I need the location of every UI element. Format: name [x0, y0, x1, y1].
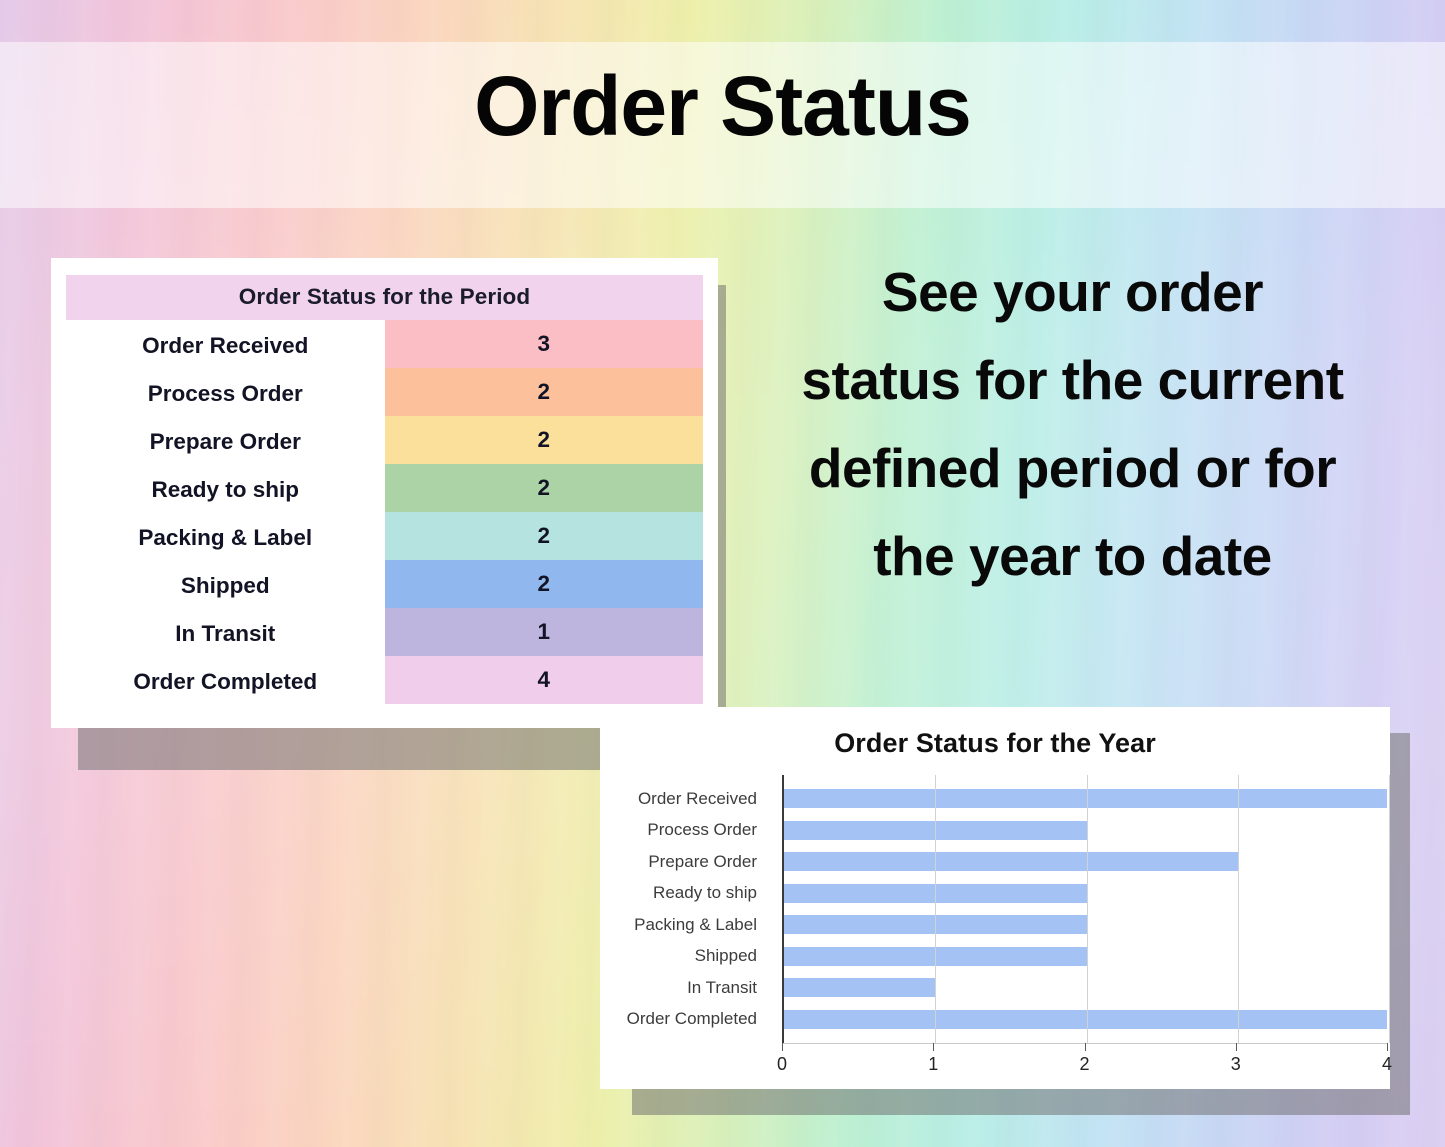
status-label: Prepare Order: [66, 418, 385, 462]
table-cell-count: 2: [385, 368, 704, 416]
chart-bar: [784, 852, 1238, 871]
table-cell-status: Order Received: [66, 320, 385, 368]
chart-plot-box: [782, 775, 1387, 1043]
table-row: Ready to ship2: [66, 464, 703, 512]
chart-bar-row: [784, 846, 1387, 878]
table-cell-status: In Transit: [66, 608, 385, 656]
table-cell-count: 3: [385, 320, 704, 368]
chart-gridline: [1087, 775, 1088, 1043]
chart-bar-row: [784, 941, 1387, 973]
chart-bar-row: [784, 878, 1387, 910]
chart-x-tick: [933, 1043, 934, 1051]
status-count: 2: [385, 563, 704, 605]
table-cell-status: Ready to ship: [66, 464, 385, 512]
status-count: 2: [385, 371, 704, 413]
order-status-table: Order Status for the Period Order Receiv…: [66, 275, 703, 704]
table-row: Order Completed4: [66, 656, 703, 704]
chart-gridline: [1238, 775, 1239, 1043]
table-cell-status: Packing & Label: [66, 512, 385, 560]
table-head: Order Status for the Period: [66, 275, 703, 320]
order-status-period-card: Order Status for the Period Order Receiv…: [51, 258, 718, 728]
table-cell-status: Order Completed: [66, 656, 385, 704]
chart-bar-row: [784, 972, 1387, 1004]
table-cell-status: Process Order: [66, 368, 385, 416]
chart-x-tick-label: 4: [1382, 1054, 1392, 1075]
status-count: 2: [385, 515, 704, 557]
table-row: Order Received3: [66, 320, 703, 368]
chart-x-tick: [782, 1043, 783, 1051]
page-title: Order Status: [0, 62, 1445, 150]
chart-bar-row: [784, 909, 1387, 941]
chart-x-tick-label: 2: [1079, 1054, 1089, 1075]
chart-category-label: In Transit: [616, 972, 764, 1004]
table-cell-count: 2: [385, 512, 704, 560]
chart-category-label: Process Order: [616, 815, 764, 847]
chart-bar-row: [784, 1004, 1387, 1036]
status-label: Order Received: [66, 322, 385, 366]
chart-x-tick: [1387, 1043, 1388, 1051]
status-label: Packing & Label: [66, 514, 385, 558]
status-count: 4: [385, 659, 704, 701]
table-cell-status: Shipped: [66, 560, 385, 608]
table-cell-count: 1: [385, 608, 704, 656]
table-cell-count: 2: [385, 416, 704, 464]
chart-gridline: [935, 775, 936, 1043]
table-cell-status: Prepare Order: [66, 416, 385, 464]
table-title-row: Order Status for the Period: [66, 275, 703, 320]
status-label: In Transit: [66, 610, 385, 654]
status-label: Ready to ship: [66, 466, 385, 510]
chart-category-axis: Order ReceivedProcess OrderPrepare Order…: [616, 783, 764, 1035]
tagline-text: See your order status for the current de…: [800, 248, 1345, 600]
table-cell-count: 2: [385, 464, 704, 512]
table-cell-count: 2: [385, 560, 704, 608]
table-row: In Transit1: [66, 608, 703, 656]
table-cell-count: 4: [385, 656, 704, 704]
table-row: Shipped2: [66, 560, 703, 608]
order-status-year-card: Order Status for the Year Order Received…: [600, 707, 1390, 1089]
status-count: 2: [385, 467, 704, 509]
chart-category-label: Ready to ship: [616, 878, 764, 910]
chart-bar: [784, 1010, 1387, 1029]
status-label: Order Completed: [66, 658, 385, 702]
chart-bar: [784, 789, 1387, 808]
chart-category-label: Order Received: [616, 783, 764, 815]
chart-x-tick: [1085, 1043, 1086, 1051]
chart-category-label: Packing & Label: [616, 909, 764, 941]
status-count: 1: [385, 611, 704, 653]
chart-title: Order Status for the Year: [600, 728, 1390, 759]
chart-category-label: Prepare Order: [616, 846, 764, 878]
chart-x-tick-label: 1: [928, 1054, 938, 1075]
status-label: Process Order: [66, 370, 385, 414]
chart-x-tick-label: 3: [1231, 1054, 1241, 1075]
table-title: Order Status for the Period: [66, 275, 703, 320]
table-row: Packing & Label2: [66, 512, 703, 560]
chart-category-label: Order Completed: [616, 1004, 764, 1036]
chart-x-tick-label: 0: [777, 1054, 787, 1075]
table-body: Order Received3Process Order2Prepare Ord…: [66, 320, 703, 704]
chart-gridline: [1389, 775, 1390, 1043]
status-label: Shipped: [66, 562, 385, 606]
chart-bar-row: [784, 815, 1387, 847]
chart-category-label: Shipped: [616, 941, 764, 973]
chart-x-tick: [1236, 1043, 1237, 1051]
chart-bar: [784, 978, 935, 997]
chart-plot-area: Order ReceivedProcess OrderPrepare Order…: [616, 775, 1374, 1075]
status-count: 3: [385, 323, 704, 365]
table-row: Process Order2: [66, 368, 703, 416]
status-count: 2: [385, 419, 704, 461]
chart-bars: [784, 783, 1387, 1035]
chart-bar-row: [784, 783, 1387, 815]
table-row: Prepare Order2: [66, 416, 703, 464]
